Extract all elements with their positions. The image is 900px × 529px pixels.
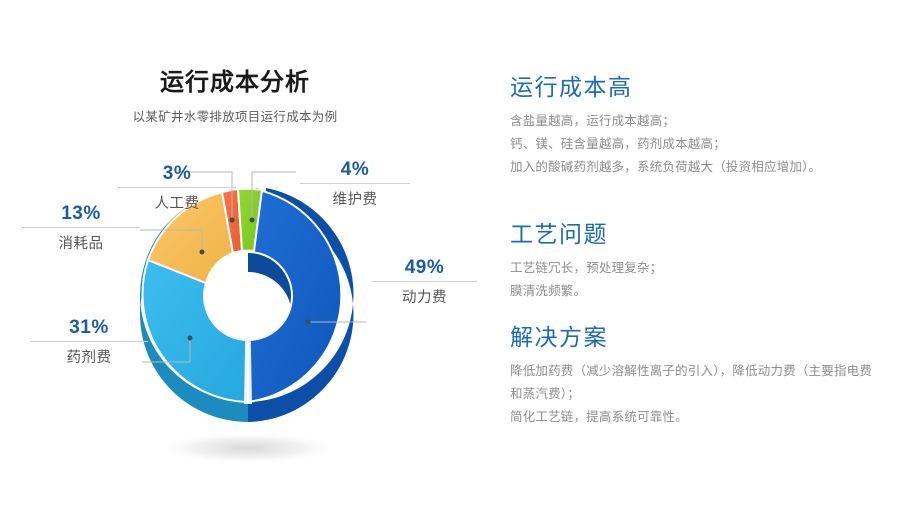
content-block-cost-line-3: 加入的酸碱药剂越多，系统负荷越大（投资相应增加）。 bbox=[510, 156, 880, 179]
callout-maintenance-label: 维护费 bbox=[300, 188, 410, 209]
callout-power-rule bbox=[372, 281, 477, 282]
content-block-solution-line-2: 简化工艺链，提高系统可靠性。 bbox=[510, 406, 880, 429]
callout-chemicals-percent: 31% bbox=[30, 318, 148, 338]
callout-consumables-rule bbox=[22, 227, 140, 228]
callout-power-label: 动力费 bbox=[372, 286, 477, 307]
content-block-process-line-2: 膜清洗频繁。 bbox=[510, 280, 880, 303]
page-title: 运行成本分析 bbox=[0, 62, 470, 97]
slide-root: 运行成本分析 以某矿井水零排放项目运行成本为例 bbox=[0, 0, 900, 529]
callout-consumables-label: 消耗品 bbox=[22, 232, 140, 253]
content-block-solution: 解决方案 降低加药费（减少溶解性离子的引入），降低动力费（主要指电费和蒸汽费）；… bbox=[510, 318, 880, 429]
content-block-solution-heading: 解决方案 bbox=[510, 318, 880, 352]
content-block-cost: 运行成本高 含盐量越高，运行成本越高； 钙、镁、硅含量越高，药剂成本越高； 加入… bbox=[510, 68, 880, 179]
chart-drop-shadow bbox=[156, 432, 340, 464]
callout-maintenance: 4% 维护费 bbox=[300, 160, 410, 209]
callout-maintenance-percent: 4% bbox=[300, 160, 410, 180]
callout-consumables: 13% 消耗品 bbox=[22, 204, 140, 253]
content-panel: 运行成本高 含盐量越高，运行成本越高； 钙、镁、硅含量越高，药剂成本越高； 加入… bbox=[510, 0, 900, 529]
callout-labor-rule bbox=[118, 187, 236, 188]
callout-consumables-percent: 13% bbox=[22, 204, 140, 224]
content-block-process-heading: 工艺问题 bbox=[510, 215, 880, 249]
callout-maintenance-rule bbox=[300, 183, 410, 184]
callout-chemicals-label: 药剂费 bbox=[30, 346, 148, 367]
content-block-process-line-1: 工艺链冗长，预处理复杂； bbox=[510, 257, 880, 280]
chart-panel: 运行成本分析 以某矿井水零排放项目运行成本为例 bbox=[0, 0, 500, 529]
content-block-cost-line-1: 含盐量越高，运行成本越高； bbox=[510, 110, 880, 133]
page-subtitle: 以某矿井水零排放项目运行成本为例 bbox=[0, 106, 470, 125]
content-block-cost-heading: 运行成本高 bbox=[510, 68, 880, 102]
content-block-cost-line-2: 钙、镁、硅含量越高，药剂成本越高； bbox=[510, 133, 880, 156]
content-block-process: 工艺问题 工艺链冗长，预处理复杂； 膜清洗频繁。 bbox=[510, 215, 880, 303]
content-block-solution-line-1: 降低加药费（减少溶解性离子的引入），降低动力费（主要指电费和蒸汽费）； bbox=[510, 360, 880, 406]
callout-labor-percent: 3% bbox=[118, 164, 236, 184]
callout-power: 49% 动力费 bbox=[372, 258, 477, 307]
callout-chemicals: 31% 药剂费 bbox=[30, 318, 148, 367]
callout-chemicals-rule bbox=[30, 341, 148, 342]
callout-power-percent: 49% bbox=[372, 258, 477, 278]
